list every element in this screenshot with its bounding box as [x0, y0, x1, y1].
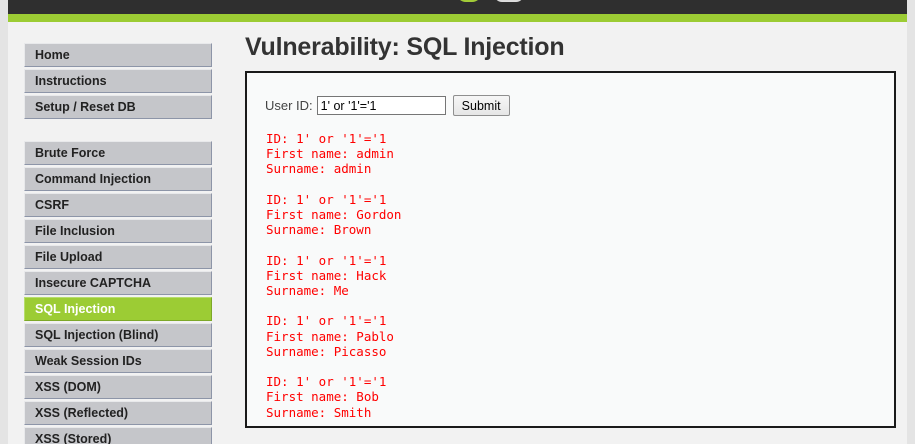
sidebar-item-brute-force[interactable]: Brute Force: [24, 141, 212, 165]
sidebar-item-csrf[interactable]: CSRF: [24, 193, 212, 217]
result-record: ID: 1' or '1'='1First name: GordonSurnam…: [266, 192, 894, 238]
sidebar-item-sql-injection-blind[interactable]: SQL Injection (Blind): [24, 323, 212, 347]
sidebar-item-weak-session-ids[interactable]: Weak Session IDs: [24, 349, 212, 373]
sidebar-group-1: Brute ForceCommand InjectionCSRFFile Inc…: [24, 141, 212, 444]
sidebar-group-0: HomeInstructionsSetup / Reset DB: [24, 43, 212, 119]
logo-white-shape: [494, 0, 524, 2]
sidebar-item-xss-dom[interactable]: XSS (DOM): [24, 375, 212, 399]
submit-button[interactable]: Submit: [453, 95, 510, 116]
user-id-input[interactable]: [317, 96, 446, 115]
result-first-name-line: First name: Gordon: [266, 207, 894, 222]
result-surname-line: Surname: Brown: [266, 222, 894, 237]
result-record: ID: 1' or '1'='1First name: HackSurname:…: [266, 253, 894, 299]
sidebar-item-file-upload[interactable]: File Upload: [24, 245, 212, 269]
sidebar-item-home[interactable]: Home: [24, 43, 212, 67]
result-surname-line: Surname: Smith: [266, 405, 894, 420]
result-first-name-line: First name: Bob: [266, 389, 894, 404]
sidebar-item-setup-reset-db[interactable]: Setup / Reset DB: [24, 95, 212, 119]
result-id-line: ID: 1' or '1'='1: [266, 131, 894, 146]
brand-green-bar: [8, 14, 907, 22]
logo-green-shape: [456, 0, 482, 2]
site-header: [8, 0, 907, 14]
main-content: Vulnerability: SQL Injection User ID: Su…: [236, 22, 907, 62]
sidebar-item-file-inclusion[interactable]: File Inclusion: [24, 219, 212, 243]
result-record: ID: 1' or '1'='1First name: adminSurname…: [266, 131, 894, 177]
result-id-line: ID: 1' or '1'='1: [266, 192, 894, 207]
sidebar-item-command-injection[interactable]: Command Injection: [24, 167, 212, 191]
result-surname-line: Surname: admin: [266, 161, 894, 176]
result-record: ID: 1' or '1'='1First name: BobSurname: …: [266, 374, 894, 420]
result-first-name-line: First name: Pablo: [266, 329, 894, 344]
page-container: HomeInstructionsSetup / Reset DBBrute Fo…: [8, 0, 907, 444]
sidebar-item-insecure-captcha[interactable]: Insecure CAPTCHA: [24, 271, 212, 295]
result-record: ID: 1' or '1'='1First name: PabloSurname…: [266, 313, 894, 359]
sidebar-item-xss-reflected[interactable]: XSS (Reflected): [24, 401, 212, 425]
vulnerability-panel: User ID: Submit ID: 1' or '1'='1First na…: [245, 71, 896, 428]
sidebar-item-instructions[interactable]: Instructions: [24, 69, 212, 93]
result-first-name-line: First name: admin: [266, 146, 894, 161]
result-surname-line: Surname: Picasso: [266, 344, 894, 359]
dvwa-logo-icon: [456, 0, 526, 8]
sql-injection-results: ID: 1' or '1'='1First name: adminSurname…: [266, 131, 894, 420]
sidebar-navigation: HomeInstructionsSetup / Reset DBBrute Fo…: [24, 43, 212, 444]
result-id-line: ID: 1' or '1'='1: [266, 374, 894, 389]
result-first-name-line: First name: Hack: [266, 268, 894, 283]
page-title: Vulnerability: SQL Injection: [245, 33, 907, 62]
sidebar-item-sql-injection[interactable]: SQL Injection: [24, 297, 212, 321]
user-id-form: User ID: Submit: [265, 95, 894, 116]
sidebar-item-xss-stored[interactable]: XSS (Stored): [24, 427, 212, 444]
result-id-line: ID: 1' or '1'='1: [266, 253, 894, 268]
result-surname-line: Surname: Me: [266, 283, 894, 298]
user-id-label: User ID:: [265, 98, 313, 113]
body-wrapper: HomeInstructionsSetup / Reset DBBrute Fo…: [8, 22, 907, 444]
result-id-line: ID: 1' or '1'='1: [266, 313, 894, 328]
